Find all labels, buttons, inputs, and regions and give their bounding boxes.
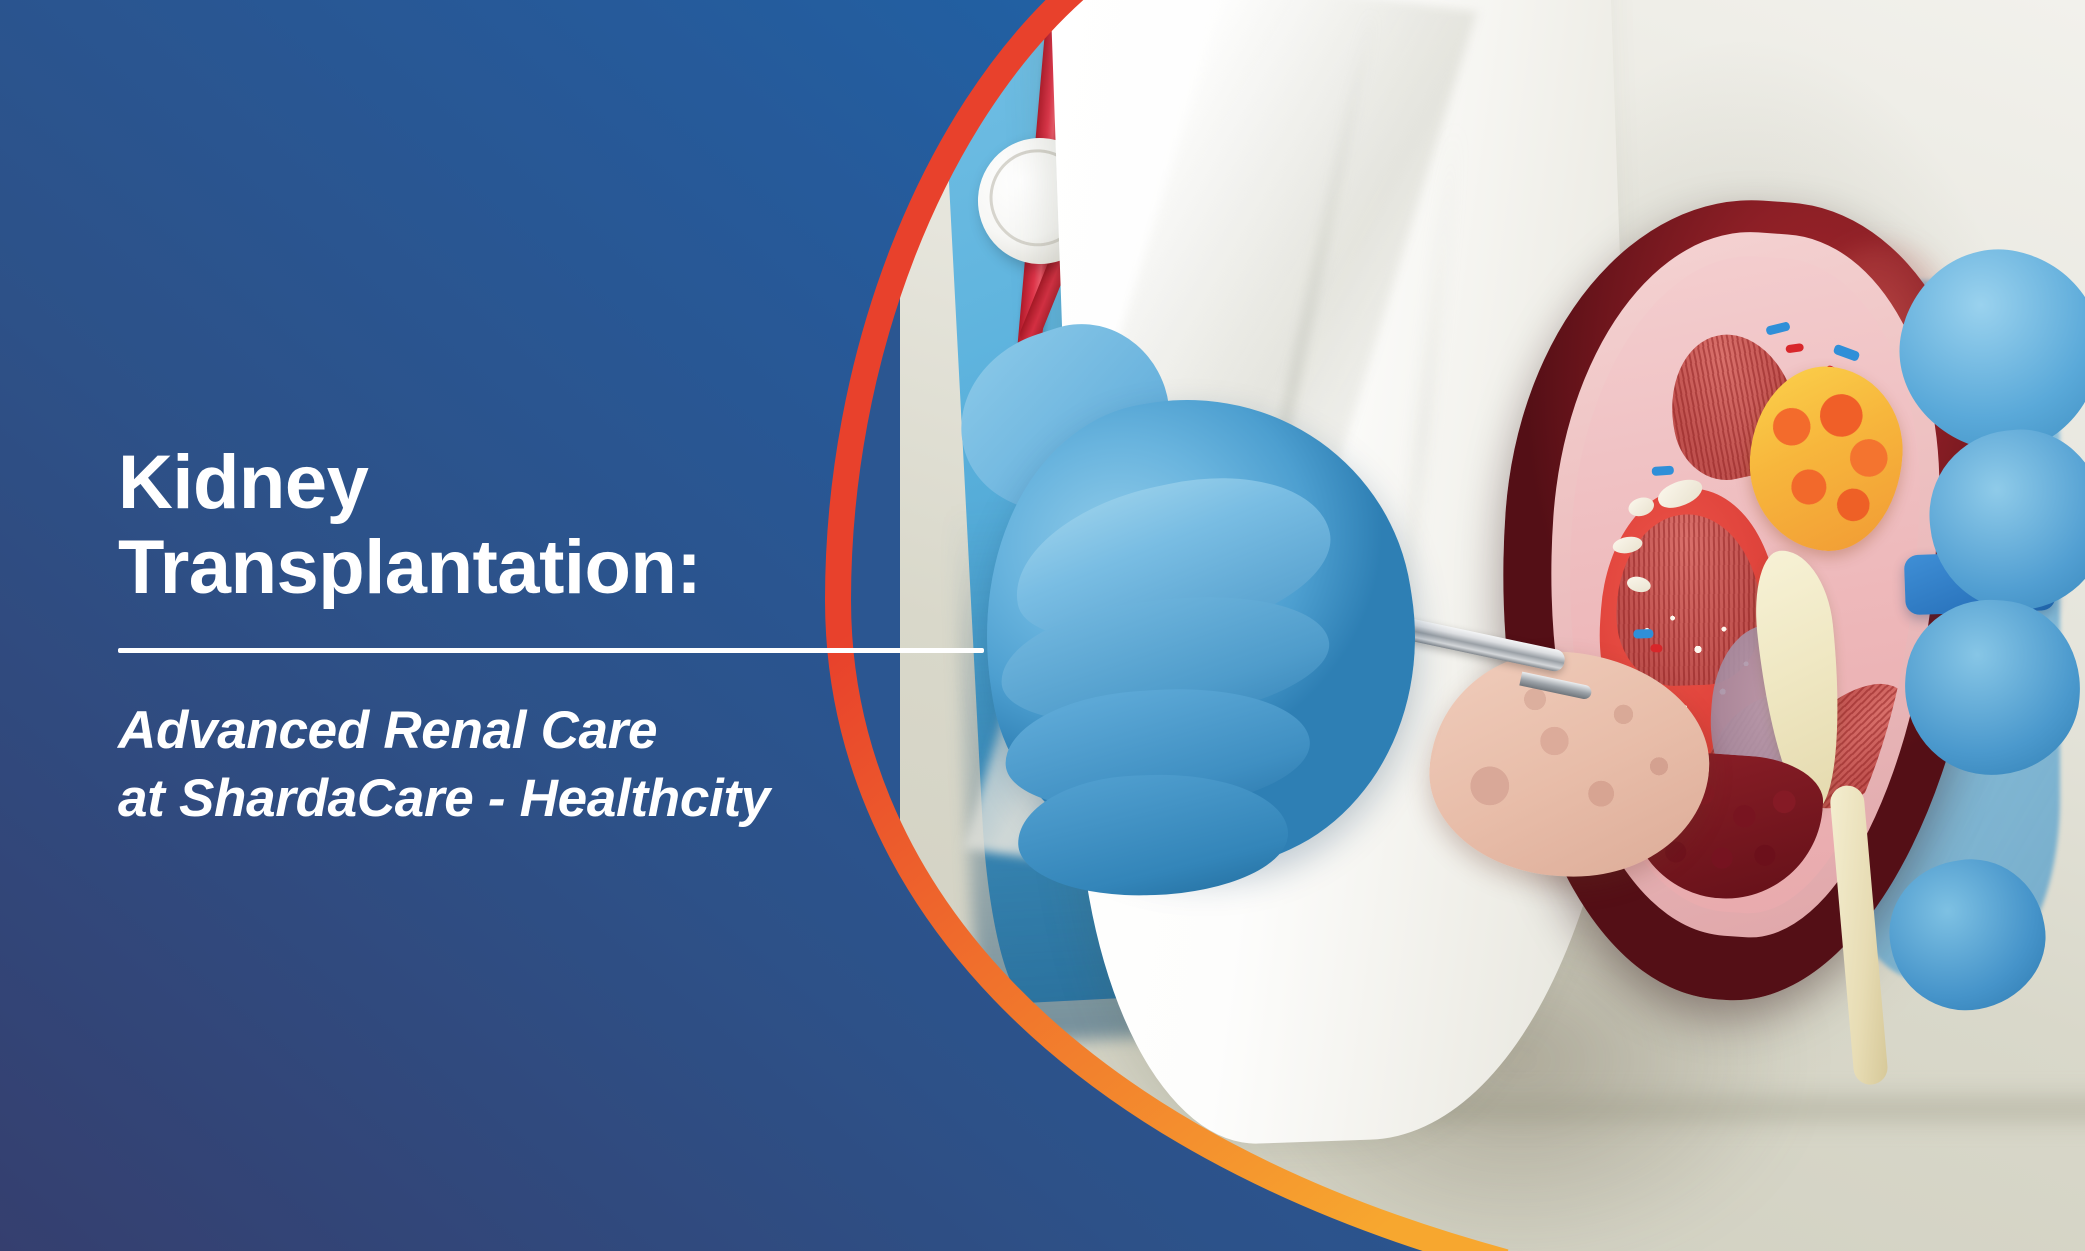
page-title: Kidney Transplantation: bbox=[118, 440, 1018, 610]
page-subtitle: Advanced Renal Care at ShardaCare - Heal… bbox=[118, 697, 1018, 833]
title-divider bbox=[118, 648, 984, 653]
kidney-transplantation-banner: Kidney Transplantation: Advanced Renal C… bbox=[0, 0, 2085, 1251]
banner-text-block: Kidney Transplantation: Advanced Renal C… bbox=[118, 440, 1018, 833]
